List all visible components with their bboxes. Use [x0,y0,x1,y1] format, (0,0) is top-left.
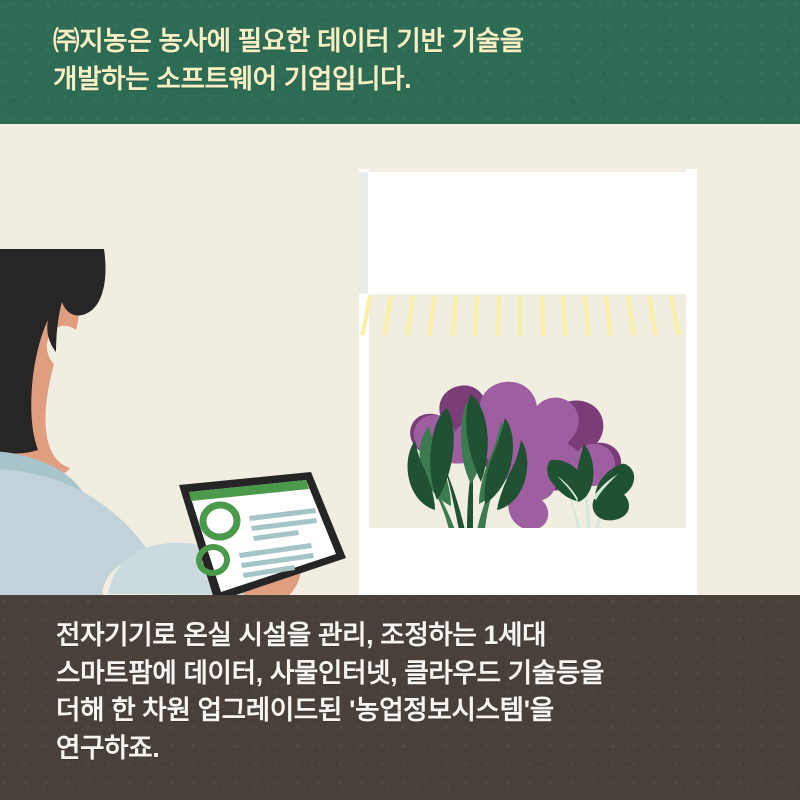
caption-band: 전자기기로 온실 시설을 관리, 조정하는 1세대 스마트팜에 데이터, 사물인… [0,595,800,800]
person-hair-icon [0,249,106,453]
illustration-stage [0,124,800,595]
caption-text: 전자기기로 온실 시설을 관리, 조정하는 1세대 스마트팜에 데이터, 사물인… [56,617,604,768]
plant-group [355,294,705,534]
infographic-card: ㈜지농은 농사에 필요한 데이터 기반 기술을 개발하는 소프트웨어 기업입니다… [0,0,800,800]
header-band: ㈜지농은 농사에 필요한 데이터 기반 기술을 개발하는 소프트웨어 기업입니다… [0,0,800,124]
header-title: ㈜지농은 농사에 필요한 데이터 기반 기술을 개발하는 소프트웨어 기업입니다… [53,22,524,99]
grow-lamp-panel [368,172,686,294]
tablet-device[interactable] [168,472,353,595]
greenhouse-shelf [359,528,697,595]
grow-lamp-edge-left [359,172,368,294]
